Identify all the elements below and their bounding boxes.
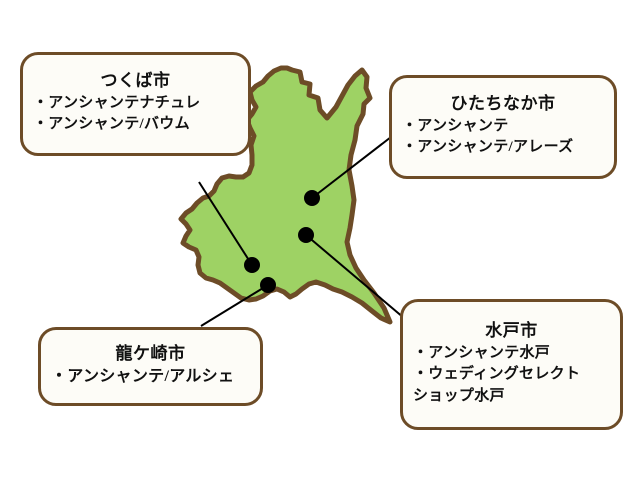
callout-ryugasaki[interactable]: 龍ケ崎市 ・アンシャンテ/アルシェ	[38, 327, 263, 406]
callout-title-tsukuba: つくば市	[33, 70, 238, 93]
callout-item: ・アンシャンテ	[402, 116, 604, 137]
callout-item: ・アンシャンテナチュレ	[33, 93, 238, 114]
callout-item: ・アンシャンテ/バウム	[33, 114, 238, 135]
callout-title-mito: 水戸市	[413, 320, 610, 343]
callout-hitachinaka[interactable]: ひたちなか市 ・アンシャンテ ・アンシャンテ/アレーズ	[389, 75, 617, 179]
tsukuba-marker[interactable]	[244, 257, 260, 273]
callout-title-ryugasaki: 龍ケ崎市	[51, 343, 250, 366]
callout-item: ・アンシャンテ/アルシェ	[51, 366, 250, 389]
ryugasaki-marker[interactable]	[260, 277, 276, 293]
callout-title-hitachinaka: ひたちなか市	[402, 93, 604, 116]
callout-tsukuba[interactable]: つくば市 ・アンシャンテナチュレ ・アンシャンテ/バウム	[20, 52, 251, 156]
hitachinaka-marker[interactable]	[304, 190, 320, 206]
mito-marker[interactable]	[298, 227, 314, 243]
callout-item: ショップ水戸	[413, 386, 610, 407]
infographic-canvas: つくば市 ・アンシャンテナチュレ ・アンシャンテ/バウム ひたちなか市 ・アンシ…	[0, 0, 640, 480]
callout-mito[interactable]: 水戸市 ・アンシャンテ水戸 ・ウェディングセレクト ショップ水戸	[400, 299, 623, 430]
callout-item: ・アンシャンテ/アレーズ	[402, 137, 604, 158]
callout-item: ・アンシャンテ水戸	[413, 343, 610, 364]
callout-item: ・ウェディングセレクト	[413, 364, 610, 385]
